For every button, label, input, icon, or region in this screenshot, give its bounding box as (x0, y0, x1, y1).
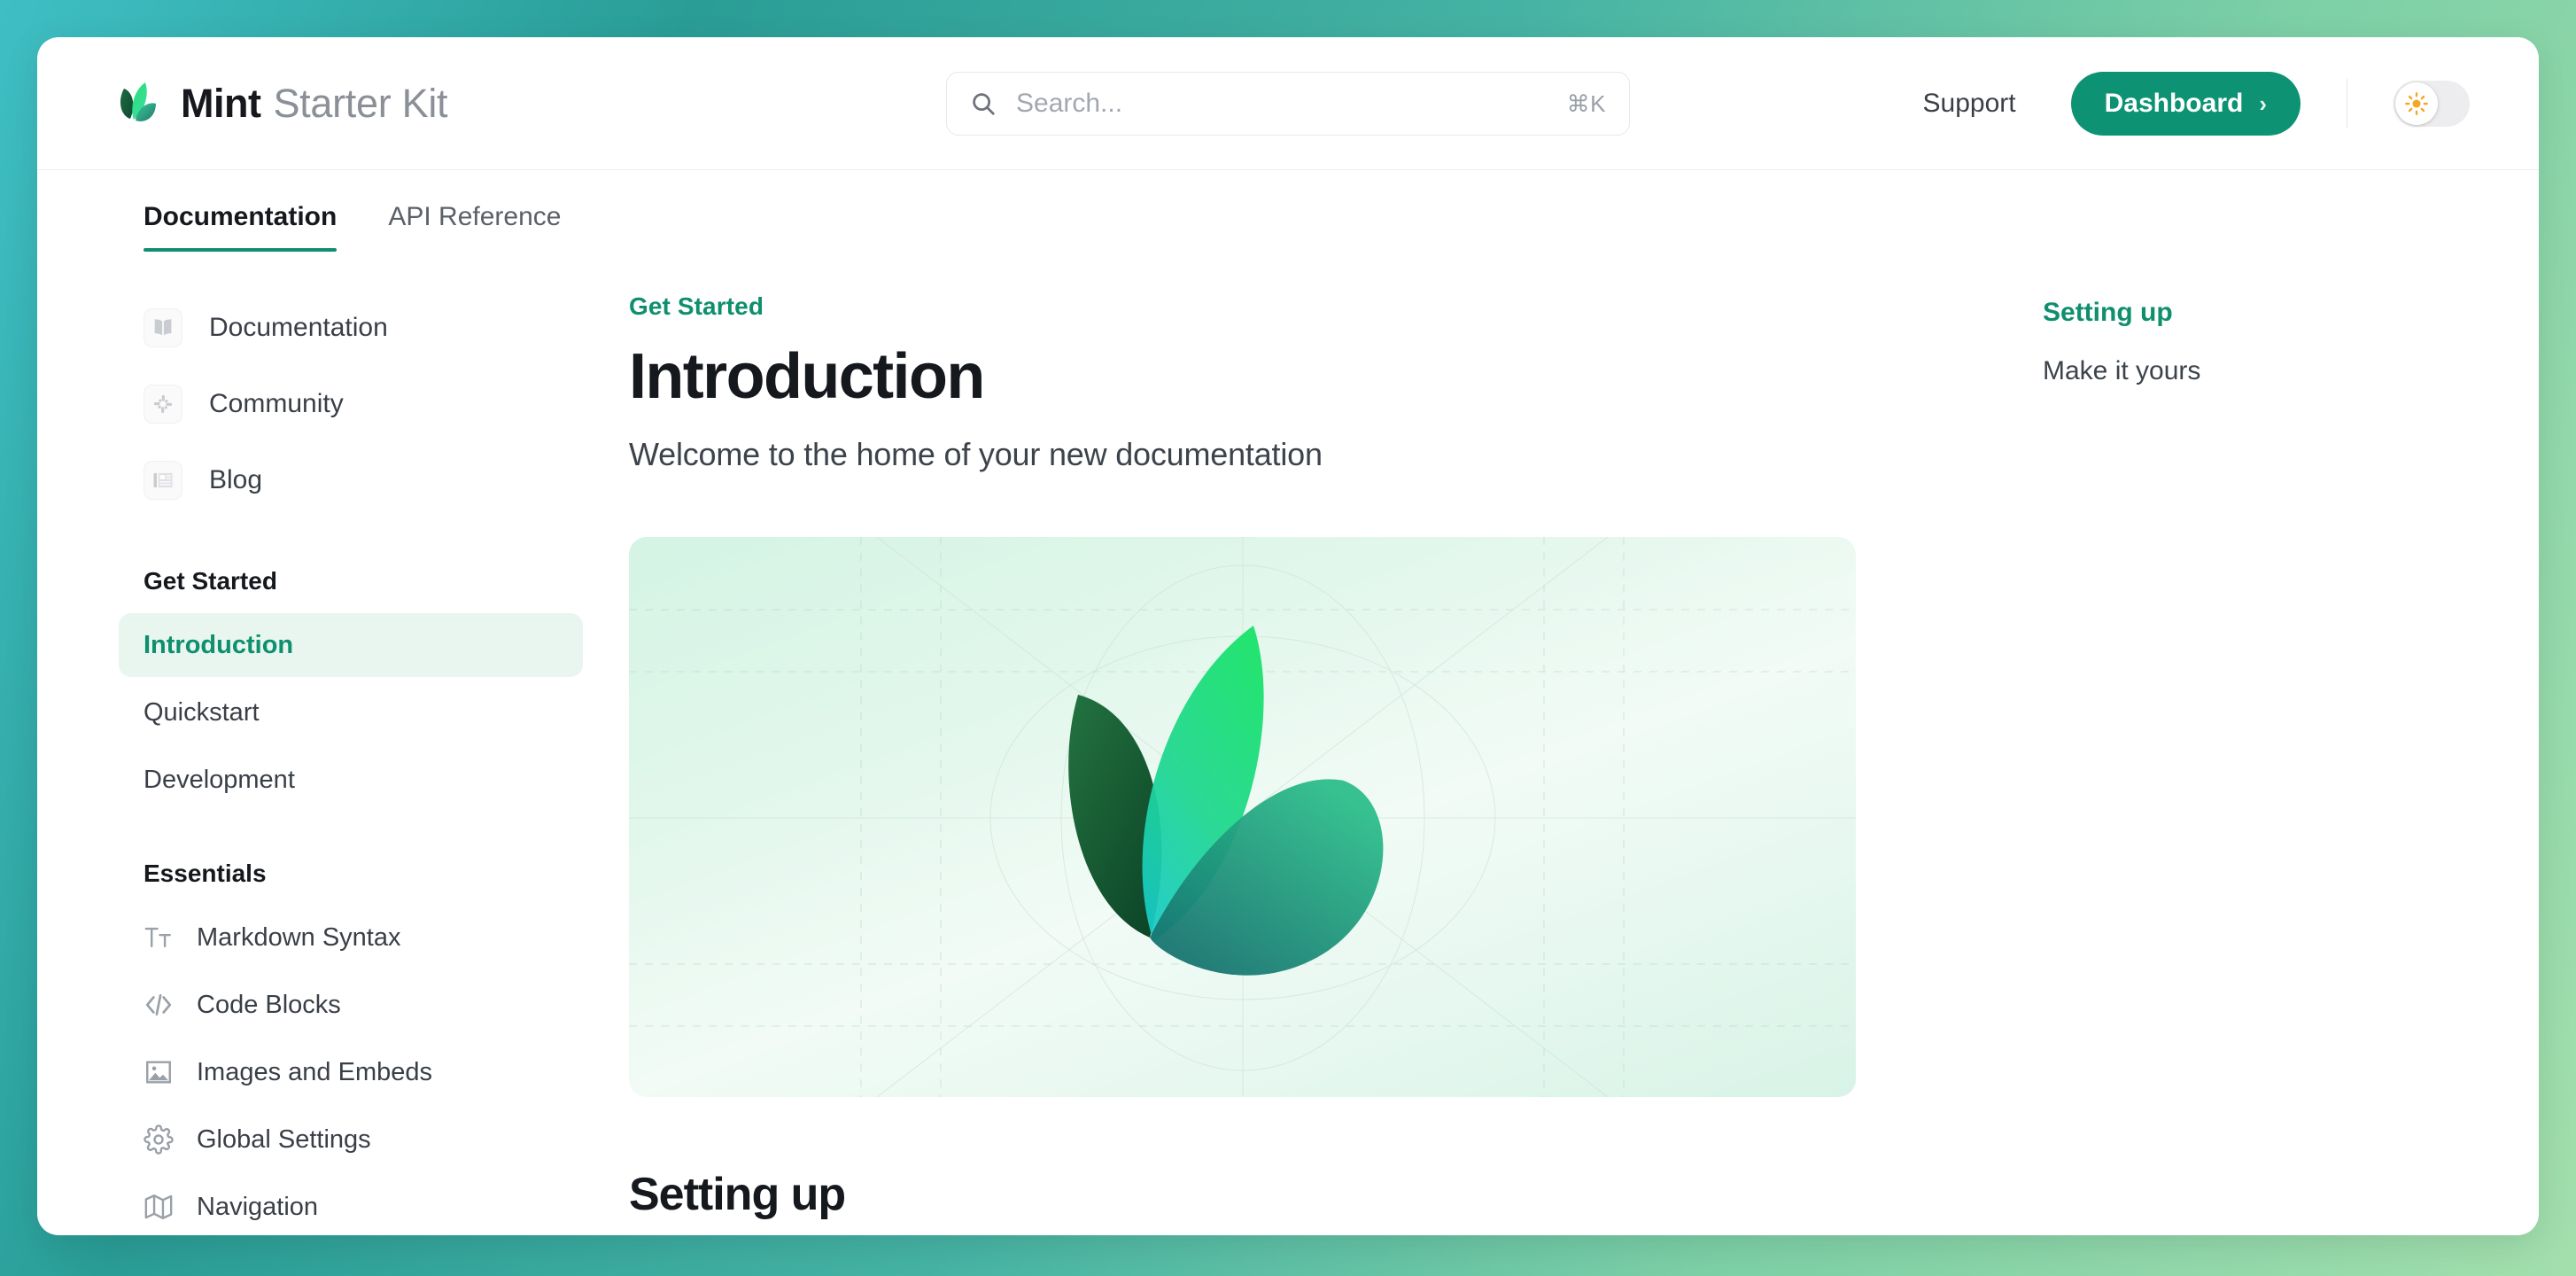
top-navigation-bar: MintStarter Kit Search... ⌘K Support Das… (37, 37, 2539, 170)
tab-documentation[interactable]: Documentation (144, 202, 337, 252)
mint-leaf-hero-icon (1045, 626, 1440, 1008)
sidebar-group-essentials: Essentials Markdown Syntax Code (119, 860, 604, 1235)
sidebar-item-global-settings[interactable]: Global Settings (119, 1108, 583, 1171)
sidebar-item-community[interactable]: Community (119, 369, 604, 440)
brand-suffix: Starter Kit (273, 81, 447, 126)
slack-icon (144, 385, 182, 424)
header-divider (2347, 79, 2347, 128)
sidebar-item-introduction[interactable]: Introduction (119, 613, 583, 677)
sidebar-item-label: Markdown Syntax (197, 923, 401, 953)
toc-item-make-it-yours[interactable]: Make it yours (2043, 356, 2539, 386)
sidebar-group-get-started: Get Started Introduction Quickstart Deve… (119, 567, 604, 812)
sidebar-item-development[interactable]: Development (119, 748, 583, 812)
sidebar-top-links: Documentation Community (119, 292, 604, 516)
breadcrumb-eyebrow: Get Started (629, 292, 2007, 321)
search-shortcut-badge: ⌘K (1567, 90, 1606, 118)
search-placeholder: Search... (1016, 89, 1567, 119)
sidebar-item-blog[interactable]: Blog (119, 445, 604, 516)
sidebar-group-title: Get Started (119, 567, 604, 595)
newspaper-icon (144, 461, 182, 500)
sidebar-item-label: Code Blocks (197, 991, 341, 1020)
sidebar-item-images-and-embeds[interactable]: Images and Embeds (119, 1040, 583, 1104)
sidebar-item-documentation[interactable]: Documentation (119, 292, 604, 363)
search-input[interactable]: Search... ⌘K (946, 72, 1630, 136)
sun-icon (2403, 90, 2430, 117)
app-window: MintStarter Kit Search... ⌘K Support Das… (37, 37, 2539, 1235)
header-actions: Support Dashboard › (1923, 72, 2470, 136)
gear-icon (144, 1124, 174, 1155)
sidebar-item-label: Navigation (197, 1193, 318, 1222)
brand-name: Mint (181, 81, 260, 126)
page-subtitle: Welcome to the home of your new document… (629, 436, 2007, 473)
sidebar-item-navigation[interactable]: Navigation (119, 1175, 583, 1235)
image-icon (144, 1057, 174, 1087)
left-sidebar: Documentation Community (37, 292, 604, 1235)
mint-leaf-logo-icon (110, 81, 161, 127)
sidebar-item-label: Global Settings (197, 1125, 371, 1155)
sidebar-item-label: Community (209, 389, 344, 419)
sidebar-item-label: Blog (209, 465, 262, 495)
toc-item-setting-up[interactable]: Setting up (2043, 298, 2539, 328)
support-link[interactable]: Support (1923, 89, 2016, 119)
dashboard-button[interactable]: Dashboard › (2071, 72, 2301, 136)
sidebar-group-title: Essentials (119, 860, 604, 888)
brand-logo-group[interactable]: MintStarter Kit (110, 81, 447, 127)
tab-api-reference[interactable]: API Reference (388, 202, 561, 252)
book-icon (144, 308, 182, 347)
code-icon (144, 990, 174, 1020)
sidebar-item-label: Images and Embeds (197, 1058, 432, 1087)
sidebar-item-code-blocks[interactable]: Code Blocks (119, 973, 583, 1037)
search-container: Search... ⌘K (946, 72, 1630, 136)
sidebar-item-quickstart[interactable]: Quickstart (119, 681, 583, 744)
sidebar-item-label: Documentation (209, 313, 388, 343)
page-title: Introduction (629, 344, 2007, 411)
page-body: Documentation Community (37, 252, 2539, 1235)
text-type-icon (144, 922, 174, 953)
section-title: Setting up (629, 1168, 2007, 1221)
map-icon (144, 1192, 174, 1222)
hero-illustration (629, 537, 1856, 1097)
chevron-right-icon: › (2259, 90, 2267, 118)
sidebar-item-markdown-syntax[interactable]: Markdown Syntax (119, 906, 583, 969)
main-content: Get Started Introduction Welcome to the … (604, 292, 2043, 1235)
tab-strip: Documentation API Reference (37, 170, 2539, 252)
search-icon (970, 90, 997, 117)
theme-toggle-knob (2395, 82, 2438, 125)
dashboard-button-label: Dashboard (2105, 89, 2244, 119)
table-of-contents: Setting up Make it yours (2043, 292, 2539, 1235)
theme-toggle[interactable] (2394, 81, 2470, 127)
